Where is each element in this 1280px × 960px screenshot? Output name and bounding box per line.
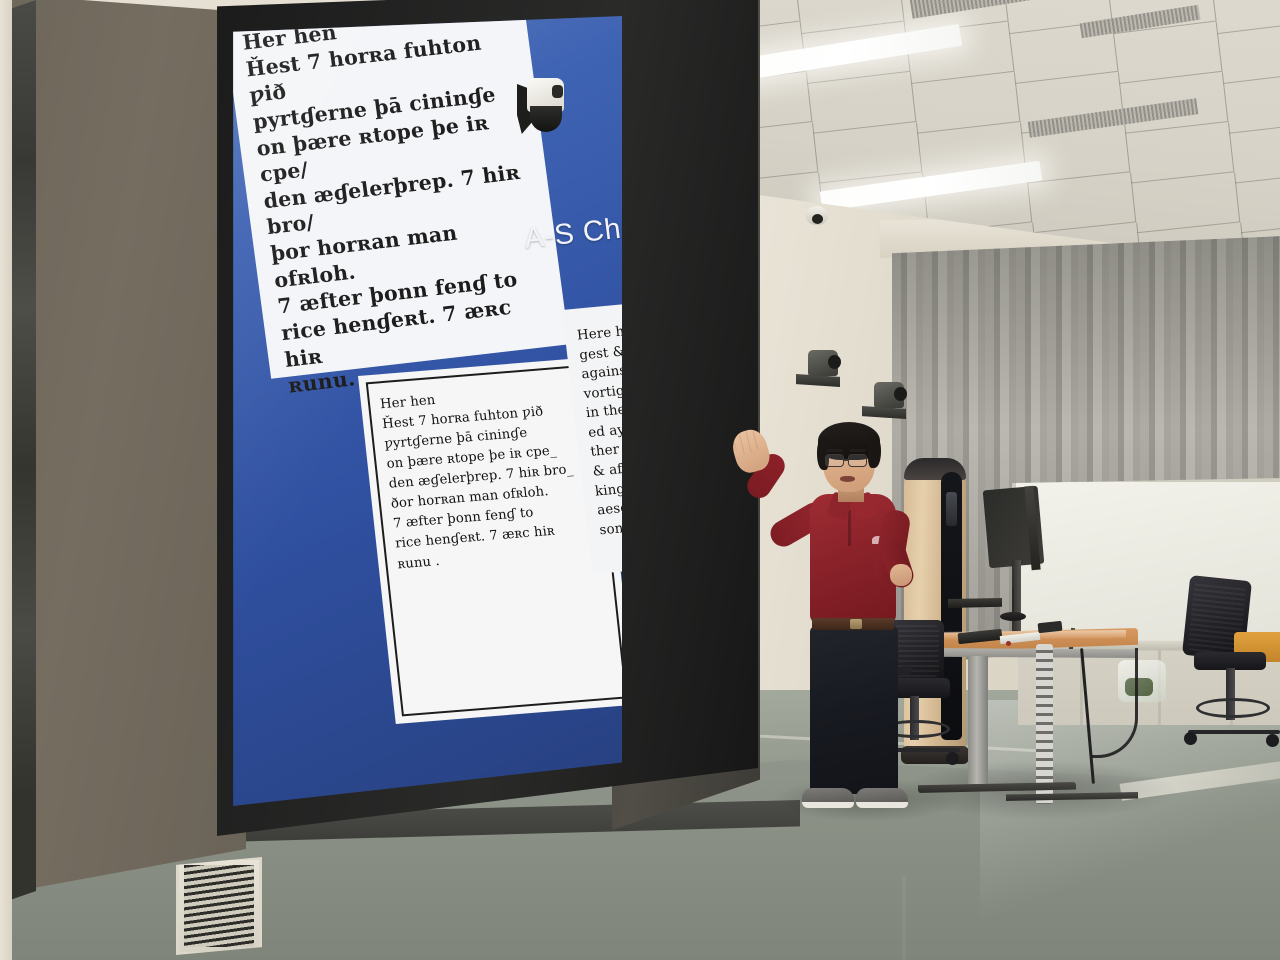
chair-caster: [1266, 734, 1279, 747]
chair-right[interactable]: [1178, 578, 1280, 768]
glasses-lens-left: [825, 454, 844, 467]
chair-caster: [1184, 732, 1197, 745]
presenter: [760, 418, 960, 818]
presenter-eyebrow-left: [826, 449, 843, 452]
glasses-lens-right: [848, 454, 867, 467]
ptz-head: [808, 350, 838, 376]
ceiling-tile: [1236, 173, 1280, 234]
wall-dome-camera: [517, 78, 564, 134]
presenter-mouth: [840, 476, 855, 482]
cable-management-chain: [1036, 644, 1053, 804]
ptz-lens-icon: [828, 355, 841, 369]
slide-content: Her hen Ȟest 7 horʀa fuhton ƿið pyrtɠern…: [224, 16, 622, 806]
presenter-shoe-right: [856, 788, 908, 808]
chair-base: [1188, 730, 1280, 734]
presenter-hair-side-right: [868, 436, 881, 468]
shoe-sole: [802, 802, 854, 808]
slide-surface[interactable]: Her hen Ȟest 7 horʀa fuhton ƿið pyrtɠern…: [224, 16, 622, 806]
presenter-shoe-left: [802, 788, 854, 808]
chair-footring: [1196, 698, 1270, 718]
belt-buckle: [850, 619, 862, 629]
microphone-stem: [1012, 586, 1014, 614]
ptz-head: [874, 382, 904, 408]
presentation-display[interactable]: Her hen Ȟest 7 horʀa fuhton ƿið pyrtɠern…: [0, 0, 760, 880]
microphone-base[interactable]: [1000, 612, 1026, 621]
shoe-sole: [856, 802, 908, 808]
glasses-bridge: [844, 459, 849, 461]
old-english-transcription-panel: Her hen Ȟest 7 horʀa fuhton ƿið pyrtɠern…: [224, 16, 569, 379]
classroom-scene: Her hen Ȟest 7 horʀa fuhton ƿið pyrtɠern…: [0, 0, 1280, 960]
desk-indicator-light: [1006, 641, 1011, 646]
trouser-seam: [902, 876, 906, 960]
presenter-eyebrow-right: [849, 449, 866, 452]
ptz-lens-icon: [894, 387, 907, 401]
ceiling-dome-camera-icon: [806, 206, 828, 225]
old-english-text: Her hen Ȟest 7 horʀa fuhton ƿið pyrtɠern…: [241, 16, 559, 400]
camera-dome: [530, 106, 562, 132]
presenter-trousers: [810, 626, 898, 794]
camera-lens-icon: [552, 85, 563, 98]
shirt-placket: [848, 510, 851, 546]
presenter-hand-right: [890, 564, 912, 586]
